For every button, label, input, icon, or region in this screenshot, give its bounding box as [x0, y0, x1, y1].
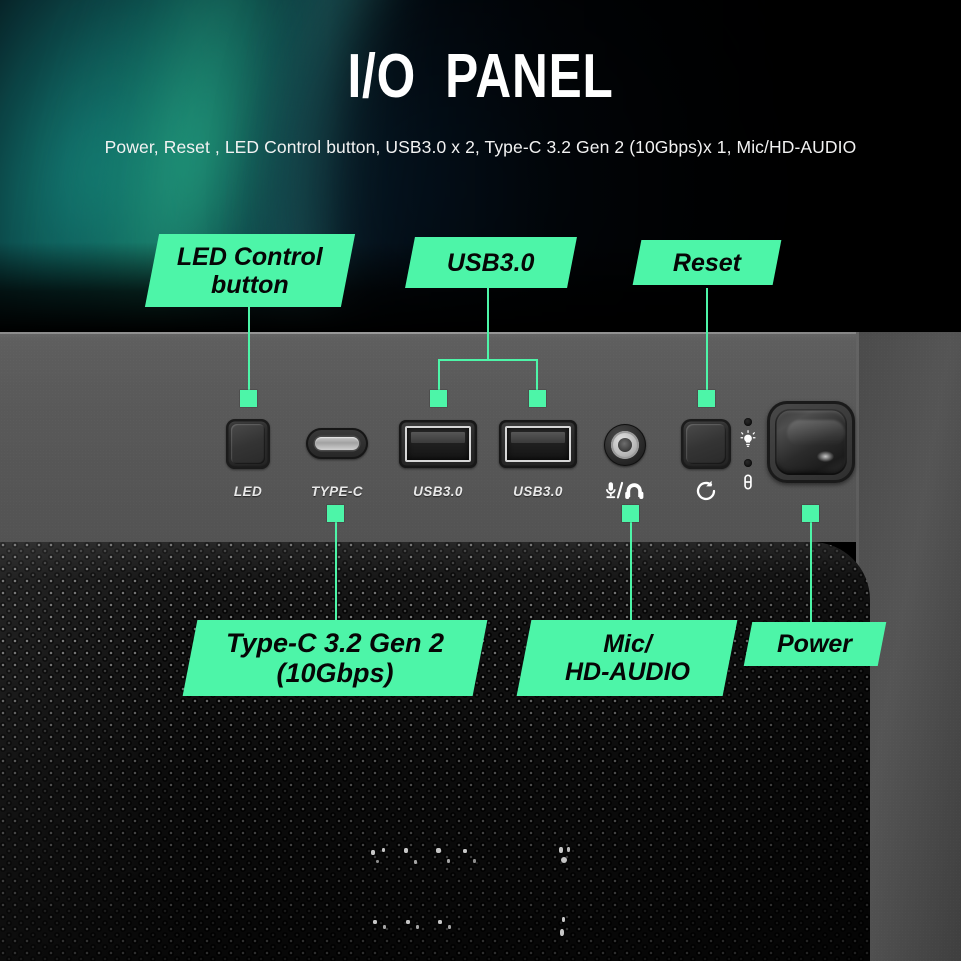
- led-button[interactable]: [226, 419, 270, 469]
- marker-led-control: [240, 390, 257, 407]
- page-subtitle: Power, Reset , LED Control button, USB3.…: [0, 137, 961, 158]
- callout-led-control[interactable]: LED Control button: [145, 234, 355, 307]
- connector-usb3-left: [438, 359, 440, 392]
- usb3-port-2[interactable]: [499, 420, 577, 468]
- usb3-port-1[interactable]: [399, 420, 477, 468]
- power-button-highlight: [817, 451, 834, 462]
- power-button-face: [775, 409, 847, 475]
- marker-reset: [698, 390, 715, 407]
- usb-tongue: [411, 432, 465, 443]
- connector-usb3-right: [536, 359, 538, 392]
- hard-drive-icon: [738, 472, 758, 492]
- port-label-led: LED: [208, 484, 288, 499]
- callout-type-c-label: Type-C 3.2 Gen 2 (10Gbps): [226, 628, 444, 688]
- connector-led-control: [248, 300, 250, 392]
- mic-headphone-icon: [602, 480, 650, 502]
- callout-mic-hd-audio-label: Mic/ HD-AUDIO: [565, 630, 690, 686]
- callout-mic-hd-audio[interactable]: Mic/ HD-AUDIO: [517, 620, 738, 696]
- connector-type-c: [335, 520, 337, 625]
- port-label-type-c: TYPE-C: [292, 484, 382, 499]
- marker-usb3-1: [430, 390, 447, 407]
- callout-type-c[interactable]: Type-C 3.2 Gen 2 (10Gbps): [183, 620, 488, 696]
- connector-power: [810, 520, 812, 622]
- callout-led-control-label: LED Control button: [177, 243, 323, 299]
- audio-jack[interactable]: [604, 424, 646, 466]
- connector-usb3-stem: [487, 288, 489, 360]
- port-label-usb3-1: USB3.0: [393, 484, 483, 499]
- marker-power: [802, 505, 819, 522]
- audio-jack-hole: [618, 438, 632, 452]
- usb-a-port-icon: [405, 426, 471, 462]
- marker-type-c: [327, 505, 344, 522]
- connector-mic-hd-audio: [630, 520, 632, 625]
- case-mesh-grill: [0, 542, 870, 961]
- usb-a-port-icon: [505, 426, 571, 462]
- callout-reset-label: Reset: [673, 249, 741, 277]
- light-bulb-icon: [738, 430, 758, 450]
- callout-power-label: Power: [777, 630, 852, 658]
- callout-usb3-label: USB3.0: [447, 249, 535, 277]
- marker-usb3-2: [529, 390, 546, 407]
- power-button[interactable]: [767, 401, 855, 483]
- callout-power[interactable]: Power: [744, 622, 887, 666]
- reset-button[interactable]: [681, 419, 731, 469]
- connector-reset: [706, 288, 708, 392]
- power-button-gloss: [787, 420, 845, 446]
- reset-arrow-icon: [694, 480, 718, 502]
- power-led-indicator: [744, 418, 752, 426]
- io-panel-infographic: I/O PANEL Power, Reset , LED Control but…: [0, 0, 961, 961]
- marker-mic-hd-audio: [622, 505, 639, 522]
- connector-usb3-bar: [438, 359, 538, 361]
- callout-reset[interactable]: Reset: [633, 240, 782, 285]
- type-c-port-icon: [315, 437, 359, 450]
- hdd-led-indicator: [744, 459, 752, 467]
- callout-usb3[interactable]: USB3.0: [405, 237, 577, 288]
- page-title: I/O PANEL: [96, 46, 865, 108]
- port-label-usb3-2: USB3.0: [493, 484, 583, 499]
- mesh-shading: [0, 542, 870, 961]
- type-c-port[interactable]: [306, 428, 368, 459]
- usb-tongue: [511, 432, 565, 443]
